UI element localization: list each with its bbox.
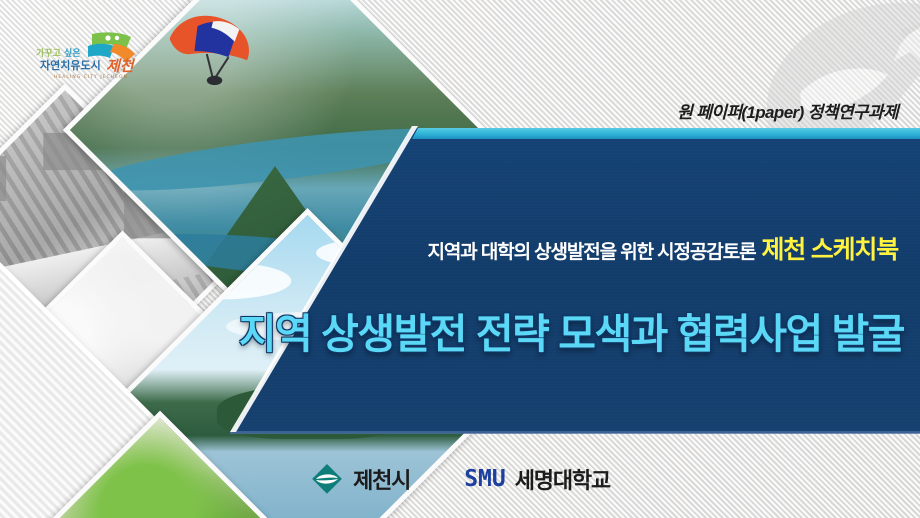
svg-text:제천: 제천 <box>106 57 136 75</box>
subtitle-line: 지역과 대학의 상생발전을 위한 시정공감토론제천 스케치북 <box>428 230 898 266</box>
partner-semyung-university: SMU 세명대학교 <box>464 463 610 495</box>
jecheon-city-brand-logo: 가꾸고 싶은 자연치유도시 제천 HEALING CITY JECHEON <box>30 30 150 82</box>
smu-wordmark-icon: SMU <box>464 466 506 492</box>
subtitle-plain-text: 지역과 대학의 상생발전을 위한 시정공감토론 <box>428 242 756 263</box>
svg-text:가꾸고: 가꾸고 <box>36 47 61 59</box>
svg-text:HEALING CITY JECHEON: HEALING CITY JECHEON <box>54 74 128 80</box>
page-title: 지역 상생발전 전략 모색과 협력사업 발굴 <box>239 300 904 360</box>
banner-bottom-divider <box>230 431 920 434</box>
footer-partner-logos: 제천시 SMU 세명대학교 <box>0 462 920 496</box>
svg-text:싶은: 싶은 <box>64 47 81 59</box>
presentation-poster: 가꾸고 싶은 자연치유도시 제천 HEALING CITY JECHEON 원 … <box>0 0 920 518</box>
jecheon-diamond-emblem-icon <box>310 462 344 496</box>
top-label: 원 페이퍼(1paper) 정책연구과제 <box>677 98 898 123</box>
jecheon-city-label: 제천시 <box>353 463 410 495</box>
svg-text:자연치유도시: 자연치유도시 <box>40 58 101 72</box>
subtitle-highlight-text: 제천 스케치북 <box>761 236 898 264</box>
paraglider-icon <box>167 13 266 84</box>
semyung-university-label: 세명대학교 <box>515 463 610 495</box>
partner-jecheon-city: 제천시 <box>310 462 410 496</box>
